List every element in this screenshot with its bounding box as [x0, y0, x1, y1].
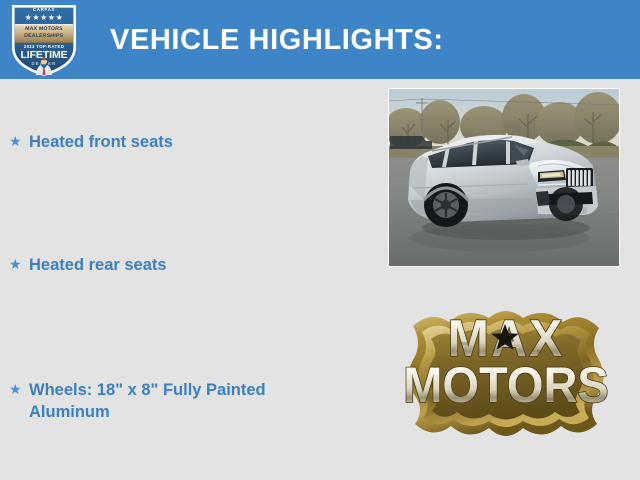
star-bullet-icon: ★ [9, 254, 29, 275]
star-bullet-icon: ★ [9, 131, 29, 152]
highlight-text: Heated rear seats [29, 254, 167, 276]
vehicle-photo [388, 88, 620, 267]
logo-line-motors: MOTORS [403, 358, 609, 414]
badge-stars: ★★★★★ [25, 14, 64, 22]
max-motors-logo: MAX MOTORS [397, 298, 615, 448]
badge-dealer-suffix: DEALERSHIPS [24, 33, 64, 40]
highlight-text: Wheels: 18" x 8" Fully Painted Aluminum [29, 379, 344, 423]
carfax-top-rated-dealer-badge: CARFAX ★★★★★ MAX MOTORS DEALERSHIPS 2023… [9, 1, 79, 77]
star-bullet-icon: ★ [9, 379, 29, 400]
list-item: ★ Wheels: 18" x 8" Fully Painted Aluminu… [9, 379, 344, 423]
person-icon [34, 57, 54, 75]
badge-dealer-band: MAX MOTORS DEALERSHIPS [15, 24, 73, 43]
header-bar: CARFAX ★★★★★ MAX MOTORS DEALERSHIPS 2023… [0, 0, 640, 79]
list-item: ★ Heated rear seats [9, 254, 167, 276]
max-motors-logo-image: MAX MOTORS [397, 298, 615, 448]
page-title: VEHICLE HIGHLIGHTS: [110, 24, 444, 57]
carfax-wordmark: CARFAX [33, 8, 55, 12]
highlights-list: ★ Heated front seats ★ Heated rear seats… [0, 79, 370, 480]
highlight-text: Heated front seats [29, 131, 173, 153]
list-item: ★ Heated front seats [9, 131, 173, 153]
vehicle-photo-image [388, 88, 620, 267]
